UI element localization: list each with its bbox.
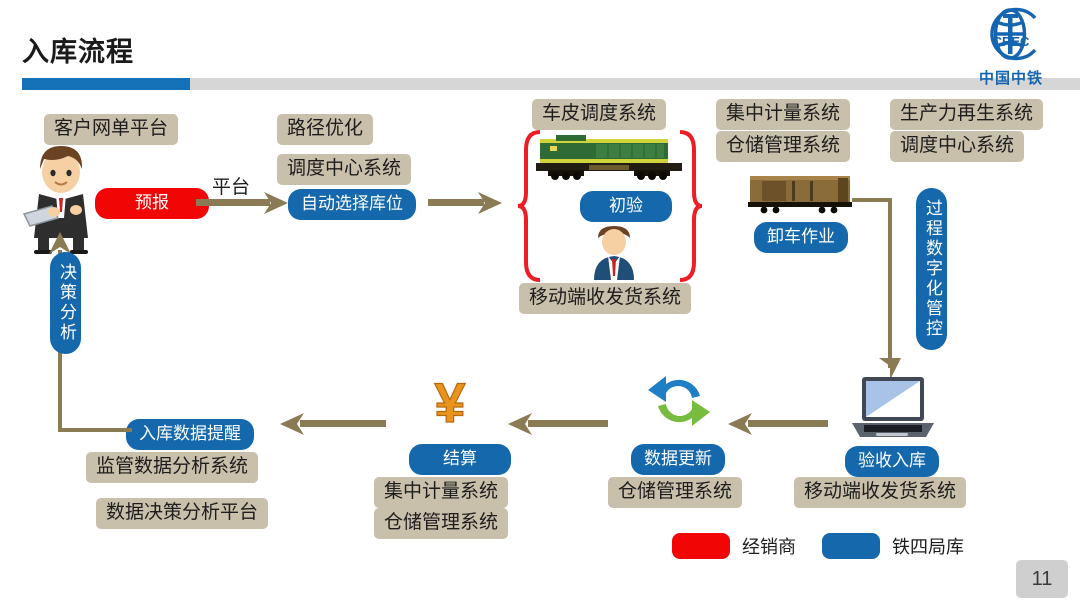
boxcar-icon bbox=[746, 174, 854, 216]
arrow-settlement-to-alert-head bbox=[278, 411, 304, 437]
link-label-platform: 平台 bbox=[212, 172, 250, 199]
legend-label-warehouse: 铁四局库 bbox=[892, 533, 964, 559]
connector-unload-vertical bbox=[888, 198, 892, 368]
tag-customer-platform: 客户网单平台 bbox=[44, 114, 178, 145]
legend-item-warehouse: 铁四局库 bbox=[822, 533, 964, 559]
laptop-icon bbox=[846, 375, 938, 441]
arrow-forecast-to-slot-head bbox=[264, 190, 290, 216]
tag-decision-platform: 数据决策分析平台 bbox=[96, 498, 268, 529]
arrow-receive-to-update-shaft bbox=[748, 420, 828, 427]
tag-warehouse-mgmt-2: 仓储管理系统 bbox=[608, 477, 742, 508]
arrow-update-to-settlement-shaft bbox=[528, 420, 608, 427]
action-receive-inbound[interactable]: 验收入库 bbox=[845, 446, 939, 477]
tag-dispatch-center-2: 调度中心系统 bbox=[890, 131, 1024, 162]
label-decision-analysis[interactable]: 决策分析 bbox=[50, 252, 81, 354]
legend-label-dealer: 经销商 bbox=[742, 533, 796, 559]
slide-canvas: 入库流程 CREC 中国中铁 客户网单平台 bbox=[0, 0, 1080, 608]
crec-wordmark: CREC bbox=[993, 34, 1030, 49]
tag-warehouse-mgmt-3: 仓储管理系统 bbox=[374, 508, 508, 539]
action-initial-inspection[interactable]: 初验 bbox=[580, 191, 672, 222]
tag-productivity-regen: 生产力再生系统 bbox=[890, 99, 1043, 130]
arrow-forecast-to-slot-shaft bbox=[196, 199, 270, 206]
tag-route-optimization: 路径优化 bbox=[277, 114, 373, 145]
action-unload[interactable]: 卸车作业 bbox=[754, 222, 848, 253]
yen-currency-icon: ¥ bbox=[426, 372, 474, 430]
legend-swatch-warehouse bbox=[822, 533, 880, 559]
yen-glyph: ¥ bbox=[434, 372, 465, 430]
arrow-slot-to-inspection-head bbox=[478, 190, 504, 216]
data-refresh-icon bbox=[646, 374, 712, 428]
logo-company-name: 中国中铁 bbox=[956, 67, 1066, 88]
connector-unload-horizontal bbox=[852, 198, 892, 202]
action-inbound-data-alert[interactable]: 入库数据提醒 bbox=[126, 419, 254, 450]
legend-swatch-dealer bbox=[672, 533, 730, 559]
company-logo: CREC 中国中铁 bbox=[956, 4, 1066, 86]
arrow-settlement-to-alert-shaft bbox=[300, 420, 386, 427]
connector-alert-horizontal bbox=[58, 428, 132, 432]
title-rule-track bbox=[190, 78, 1080, 90]
crec-globe-icon: CREC bbox=[978, 4, 1044, 64]
arrow-slot-to-inspection-shaft bbox=[428, 199, 484, 206]
tag-central-metering-1: 集中计量系统 bbox=[716, 99, 850, 130]
action-auto-select-slot[interactable]: 自动选择库位 bbox=[288, 189, 416, 220]
tag-central-metering-2: 集中计量系统 bbox=[374, 477, 508, 508]
legend-item-dealer: 经销商 bbox=[672, 533, 796, 559]
inspector-avatar-icon bbox=[586, 226, 642, 280]
action-data-update[interactable]: 数据更新 bbox=[631, 444, 725, 475]
tag-dispatch-center-1: 调度中心系统 bbox=[277, 154, 411, 185]
action-settlement[interactable]: 结算 bbox=[409, 444, 511, 475]
label-process-digital-control[interactable]: 过程数字化管控 bbox=[916, 188, 947, 350]
action-forecast[interactable]: 预报 bbox=[95, 188, 209, 219]
locomotive-icon bbox=[534, 133, 686, 181]
tag-wagon-dispatch: 车皮调度系统 bbox=[532, 99, 666, 130]
tag-supervision-analysis: 监管数据分析系统 bbox=[86, 452, 258, 483]
arrow-update-to-settlement-head bbox=[506, 411, 532, 437]
tag-warehouse-mgmt-1: 仓储管理系统 bbox=[716, 131, 850, 162]
page-number: 11 bbox=[1016, 560, 1068, 598]
tag-mobile-shipping-1: 移动端收发货系统 bbox=[519, 283, 691, 314]
page-title: 入库流程 bbox=[22, 30, 134, 69]
arrow-receive-to-update-head bbox=[726, 411, 752, 437]
title-rule-accent bbox=[22, 78, 190, 90]
tag-mobile-shipping-2: 移动端收发货系统 bbox=[794, 477, 966, 508]
